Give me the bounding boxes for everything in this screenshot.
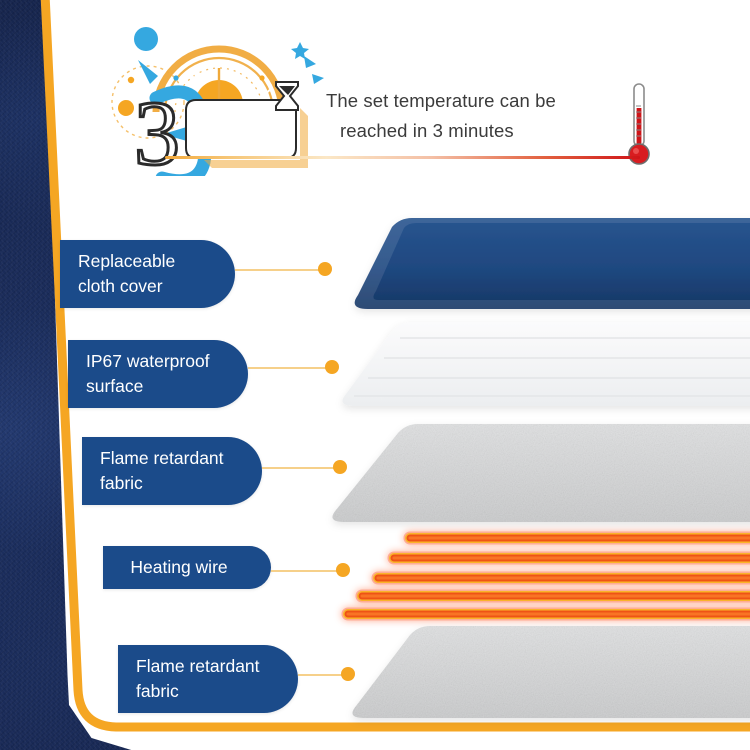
connector-line-flame-retardant-fabric-top [262,467,338,469]
connector-dot-heating-wire [336,563,350,577]
label-pill-flame-retardant-fabric-bottom[interactable]: Flame retardant fabric [118,645,298,713]
layer-flame-retardant-bottom [352,626,750,718]
label-pill-flame-retardant-fabric-top[interactable]: Flame retardant fabric [82,437,262,505]
layer-heating-wire [348,538,750,614]
connector-line-flame-retardant-fabric-bottom [298,674,346,676]
label-pill-heating-wire[interactable]: Heating wire [103,546,271,589]
layer-flame-retardant-top [332,424,750,522]
label-pill-replaceable-cloth-cover[interactable]: Replaceable cloth cover [60,240,235,308]
connector-line-heating-wire [271,570,341,572]
connector-dot-ip67-waterproof-surface [325,360,339,374]
connector-dot-replaceable-cloth-cover [318,262,332,276]
connector-dot-flame-retardant-fabric-top [333,460,347,474]
label-pill-ip67-waterproof-surface[interactable]: IP67 waterproof surface [68,340,248,408]
connector-dot-flame-retardant-fabric-bottom [341,667,355,681]
product-infographic: 3 The set temperature can be reached in … [0,0,750,750]
connector-line-ip67-waterproof-surface [248,367,330,369]
layer-waterproof-surface [342,322,750,406]
connector-line-replaceable-cloth-cover [235,269,323,271]
layer-cloth-cover [355,218,750,309]
